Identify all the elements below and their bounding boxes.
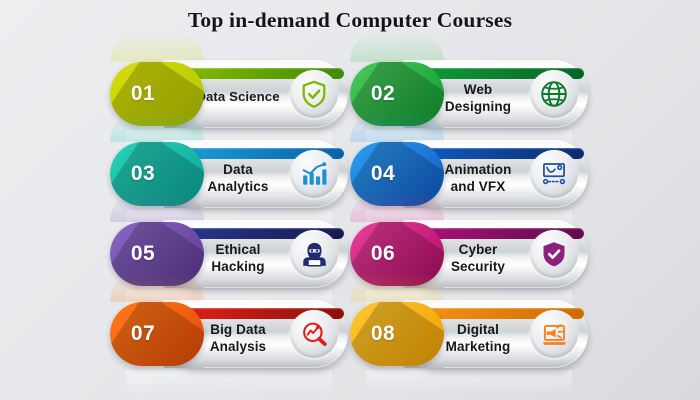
page-title: Top in-demand Computer Courses [0, 8, 700, 33]
card-number: 02 [350, 62, 416, 126]
course-card[interactable]: Digital Marketing 08 [348, 298, 588, 372]
course-card[interactable]: Web Designing 02 [348, 58, 588, 132]
search-analytics-icon [300, 320, 329, 349]
card-icon-well [290, 150, 338, 198]
card-number-badge: 02 [350, 62, 444, 126]
bar-chart-icon [299, 159, 329, 189]
shield-solid-check-icon [540, 240, 568, 268]
globe-icon [539, 79, 569, 109]
card-icon-well [530, 230, 578, 278]
card-number-badge: 04 [350, 142, 444, 206]
hacker-icon [300, 240, 329, 269]
badge-glow [110, 32, 204, 62]
card-number-badge: 01 [110, 62, 204, 126]
card-icon-well [530, 310, 578, 358]
course-card[interactable]: Cyber Security 06 [348, 218, 588, 292]
card-number-badge: 03 [110, 142, 204, 206]
course-card[interactable]: Animation and VFX 04 [348, 138, 588, 212]
course-card[interactable]: Data Science 01 [108, 58, 348, 132]
badge-glow [350, 32, 444, 62]
course-card[interactable]: Ethical Hacking 05 [108, 218, 348, 292]
card-reflection [126, 370, 332, 396]
card-number: 06 [350, 222, 416, 286]
card-number-badge: 05 [110, 222, 204, 286]
card-icon-well [530, 70, 578, 118]
megaphone-laptop-icon [540, 320, 569, 349]
card-number-badge: 08 [350, 302, 444, 366]
poster-stage: Top in-demand Computer Courses Data Scie… [0, 0, 700, 400]
course-card[interactable]: Big Data Analysis 07 [108, 298, 348, 372]
card-number-badge: 06 [350, 222, 444, 286]
card-reflection [366, 370, 572, 396]
card-icon-well [290, 310, 338, 358]
motion-curve-icon [540, 160, 568, 188]
card-number-badge: 07 [110, 302, 204, 366]
shield-check-icon [299, 79, 329, 109]
card-number: 01 [110, 62, 176, 126]
card-number: 04 [350, 142, 416, 206]
card-icon-well [290, 70, 338, 118]
card-number: 03 [110, 142, 176, 206]
card-icon-well [530, 150, 578, 198]
card-number: 08 [350, 302, 416, 366]
course-card[interactable]: Data Analytics 03 [108, 138, 348, 212]
card-number: 07 [110, 302, 176, 366]
card-number: 05 [110, 222, 176, 286]
card-icon-well [290, 230, 338, 278]
